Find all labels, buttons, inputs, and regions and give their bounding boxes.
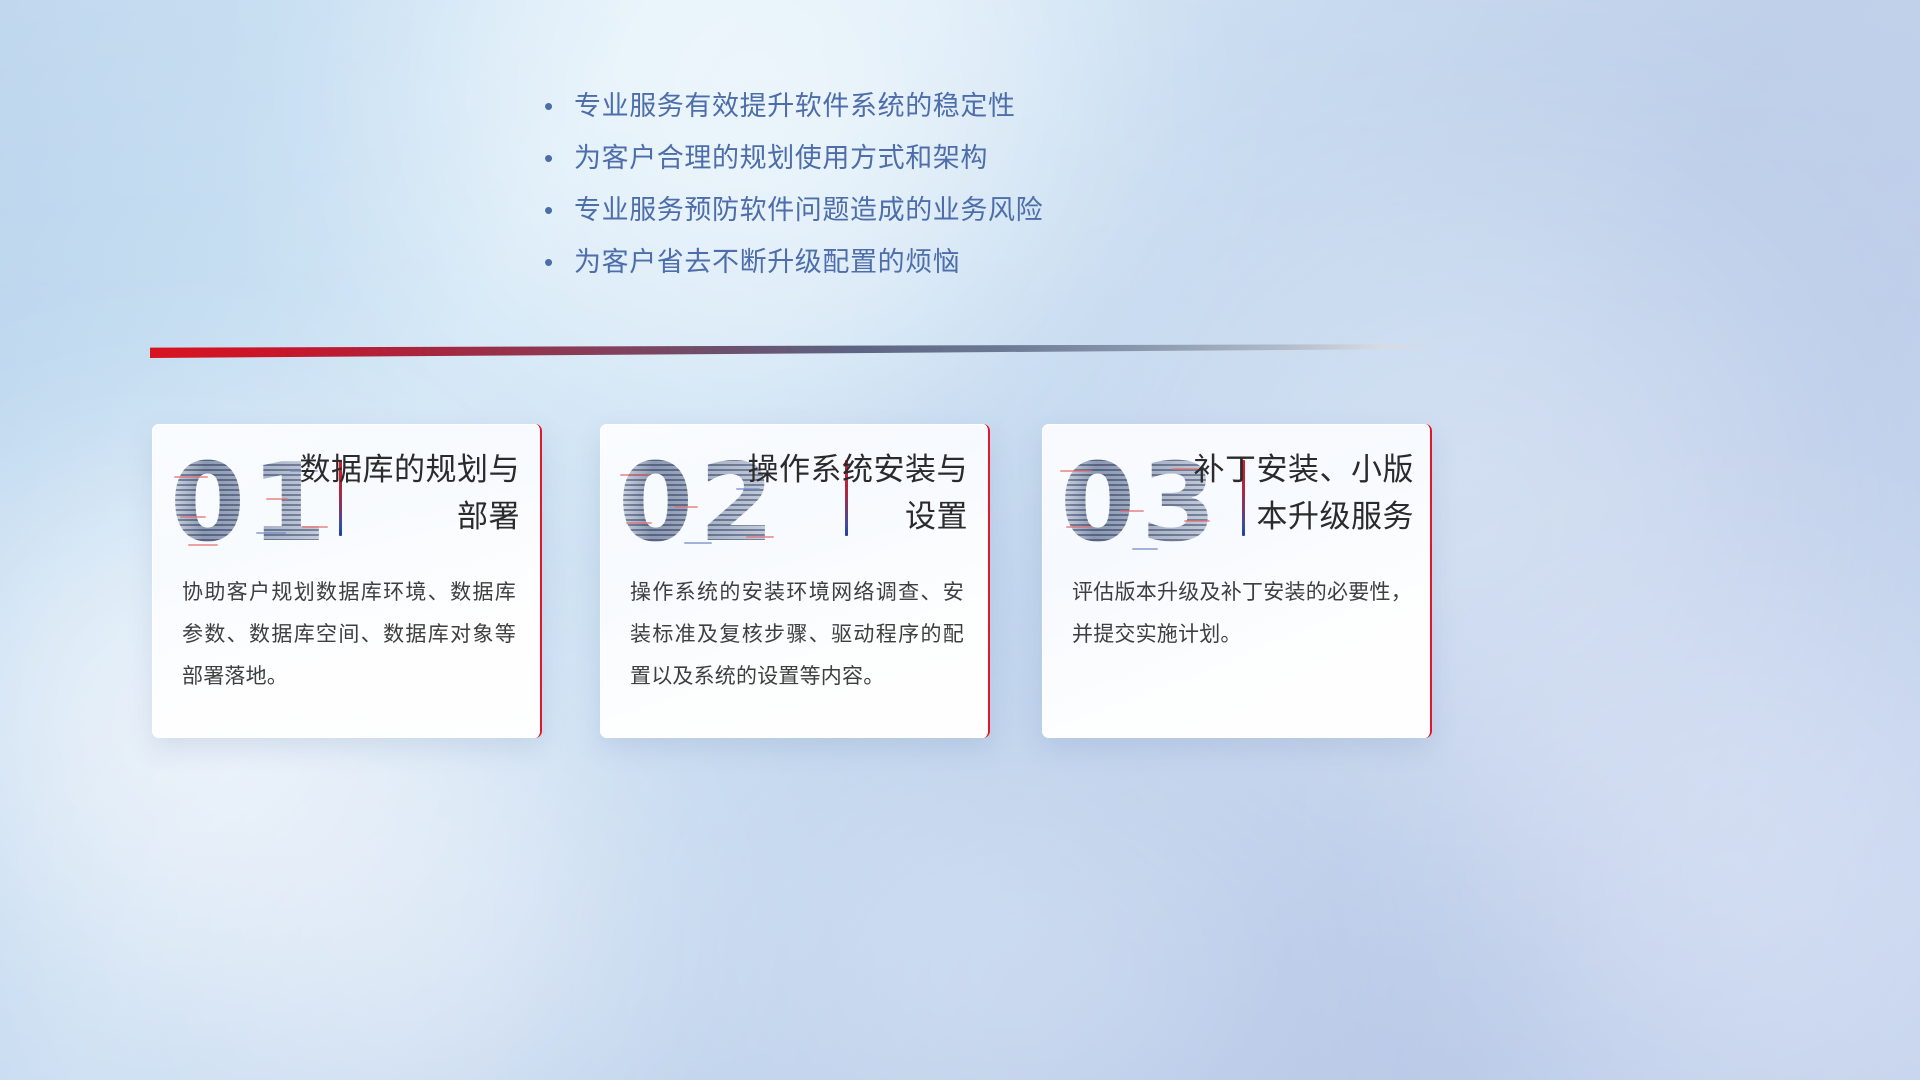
divider-gradient-bar [150, 344, 1430, 358]
bullet-dot-icon: • [540, 190, 574, 230]
card-header: 03 补丁安装、小版本升级服务 [1042, 434, 1430, 564]
bullet-dot-icon: • [540, 242, 574, 282]
service-card-03[interactable]: 03 补丁安装、小版本升级服务 评估版本升级及补丁安装的必要性，并提交实施计划。 [1042, 424, 1432, 738]
service-card-group: 01 数据库的规划与部署 协助客户规划数据库环境、数据库参数、数据库空间、数据库… [0, 424, 1920, 744]
card-title: 操作系统安装与设置 [738, 446, 968, 540]
card-header: 02 操作系统安装与设置 [600, 434, 988, 564]
card-description: 操作系统的安装环境网络调查、安装标准及复核步骤、驱动程序的配置以及系统的设置等内… [630, 572, 964, 698]
bullet-dot-icon: • [540, 86, 574, 126]
list-item: • 为客户合理的规划使用方式和架构 [540, 138, 1300, 190]
card-description: 协助客户规划数据库环境、数据库参数、数据库空间、数据库对象等部署落地。 [182, 572, 516, 698]
card-title: 数据库的规划与部署 [290, 446, 520, 540]
bullet-text: 为客户省去不断升级配置的烦恼 [574, 242, 960, 282]
card-header: 01 数据库的规划与部署 [152, 434, 540, 564]
bullet-text: 为客户合理的规划使用方式和架构 [574, 138, 988, 178]
list-item: • 专业服务有效提升软件系统的稳定性 [540, 86, 1300, 138]
list-item: • 为客户省去不断升级配置的烦恼 [540, 242, 1300, 294]
bullet-text: 专业服务预防软件问题造成的业务风险 [574, 190, 1043, 230]
list-item: • 专业服务预防软件问题造成的业务风险 [540, 190, 1300, 242]
card-description: 评估版本升级及补丁安装的必要性，并提交实施计划。 [1072, 572, 1412, 656]
bullet-dot-icon: • [540, 138, 574, 178]
section-divider [150, 344, 1430, 358]
service-card-01[interactable]: 01 数据库的规划与部署 协助客户规划数据库环境、数据库参数、数据库空间、数据库… [152, 424, 542, 738]
card-title: 补丁安装、小版本升级服务 [1178, 446, 1414, 540]
bullet-text: 专业服务有效提升软件系统的稳定性 [574, 86, 1016, 126]
benefits-bullet-list: • 专业服务有效提升软件系统的稳定性 • 为客户合理的规划使用方式和架构 • 专… [540, 86, 1300, 294]
service-card-02[interactable]: 02 操作系统安装与设置 操作系统的安装环境网络调查、安装标准及复核步骤、驱动程… [600, 424, 990, 738]
